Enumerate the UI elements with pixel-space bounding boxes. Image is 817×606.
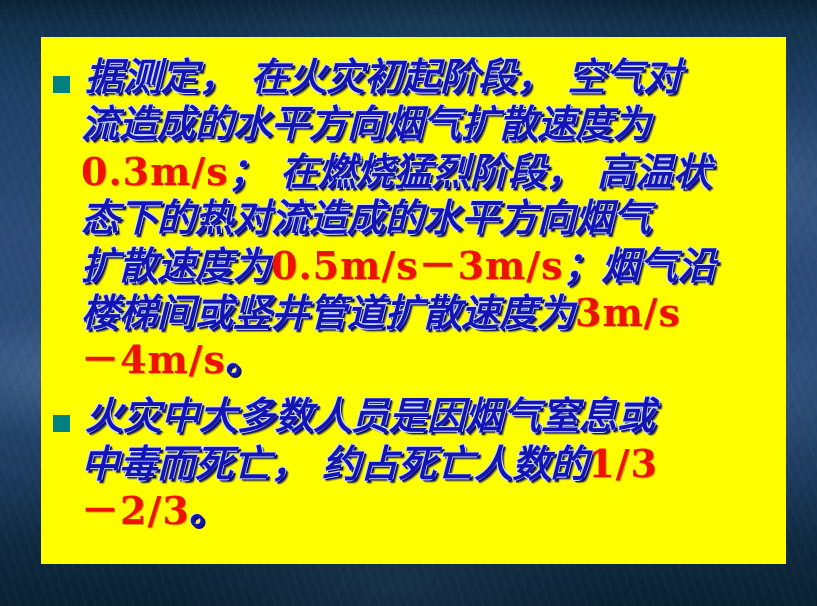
- text-run-value: 3m/s: [575, 290, 681, 335]
- text-line: 态下的热对流造成的水平方向烟气: [41, 195, 786, 242]
- text-line: 火灾中大多数人员是因烟气窒息或: [41, 393, 786, 440]
- text-line: 据测定， 在火灾初起阶段， 空气对: [41, 54, 786, 101]
- text-line: 中毒而死亡， 约占死亡人数的1/3: [41, 440, 786, 487]
- bullet-item-2: 火灾中大多数人员是因烟气窒息或 中毒而死亡， 约占死亡人数的1/3 －2/3。: [41, 393, 786, 534]
- text-run-value: －2/3: [81, 488, 190, 533]
- text-run-cn: ； 在燃烧猛烈阶段， 高温状: [229, 150, 711, 194]
- bullet-1-text: 据测定， 在火灾初起阶段， 空气对 流造成的水平方向烟气扩散速度为 0.3m/s…: [41, 54, 786, 383]
- text-line: 0.3m/s； 在燃烧猛烈阶段， 高温状: [41, 148, 786, 195]
- text-run-value: 1/3: [588, 441, 658, 486]
- text-run-cn: 据测定， 在火灾初起阶段， 空气对: [85, 55, 681, 99]
- text-run-cn: 扩散速度为: [81, 244, 271, 288]
- text-run-cn: 态下的热对流造成的水平方向烟气: [81, 196, 651, 240]
- bullet-2-text: 火灾中大多数人员是因烟气窒息或 中毒而死亡， 约占死亡人数的1/3 －2/3。: [41, 393, 786, 534]
- text-run-cn: 火灾中大多数人员是因烟气窒息或: [85, 394, 655, 438]
- text-run-cn: ；烟气沿: [564, 244, 716, 288]
- text-line: 楼梯间或竖井管道扩散速度为3m/s: [41, 289, 786, 336]
- text-run-value: －4m/s: [81, 337, 226, 382]
- text-run-cn: 流造成的水平方向烟气扩散速度为: [81, 102, 651, 146]
- presentation-slide: 据测定， 在火灾初起阶段， 空气对 流造成的水平方向烟气扩散速度为 0.3m/s…: [0, 0, 817, 606]
- text-line: 扩散速度为0.5m/s－3m/s；烟气沿: [41, 242, 786, 289]
- text-line: －2/3。: [41, 487, 786, 534]
- text-run-cn: 中毒而死亡， 约占死亡人数的: [81, 442, 588, 486]
- yellow-content-panel: 据测定， 在火灾初起阶段， 空气对 流造成的水平方向烟气扩散速度为 0.3m/s…: [41, 37, 786, 564]
- text-run-cn: 楼梯间或竖井管道扩散速度为: [81, 291, 575, 335]
- text-run-punct: 。: [226, 337, 264, 382]
- bullet-item-1: 据测定， 在火灾初起阶段， 空气对 流造成的水平方向烟气扩散速度为 0.3m/s…: [41, 54, 786, 383]
- text-run-value: 0.3m/s: [81, 149, 229, 194]
- text-line: 流造成的水平方向烟气扩散速度为: [41, 101, 786, 148]
- text-run-punct: 。: [190, 488, 228, 533]
- text-line: －4m/s。: [41, 336, 786, 383]
- text-run-value: 0.5m/s－3m/s: [271, 243, 564, 288]
